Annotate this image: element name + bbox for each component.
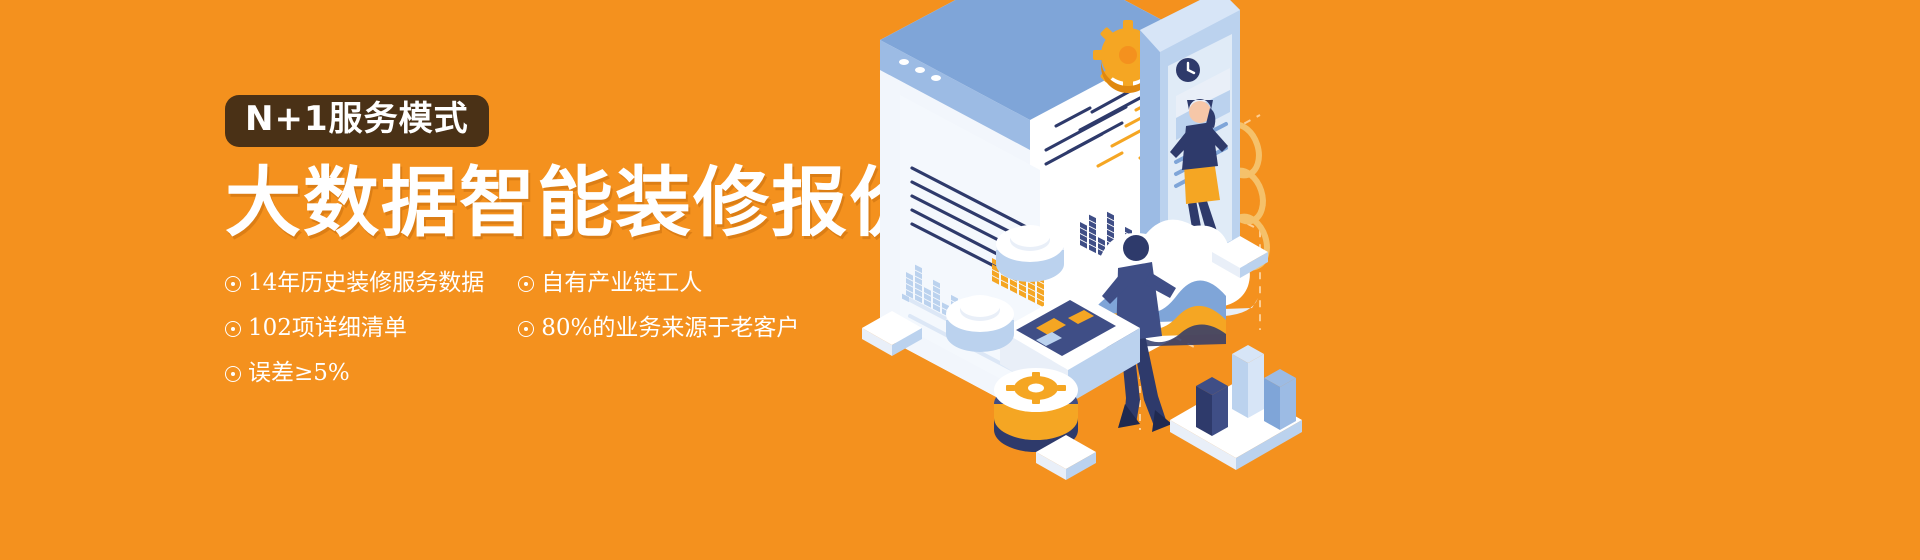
bar-navy	[1196, 377, 1228, 436]
circle-dot-icon	[225, 321, 241, 337]
circle-dot-icon	[518, 276, 534, 292]
stacked-disks-lower	[946, 295, 1014, 352]
list-item: 自有产业链工人	[518, 271, 799, 296]
bar-blue	[1264, 369, 1296, 430]
list-item: 102项详细清单	[225, 316, 484, 341]
list-item-label: 误差≥5%	[248, 361, 350, 386]
circle-dot-icon	[518, 321, 534, 337]
bar-blocks	[1170, 345, 1302, 470]
bar-blue-light	[1232, 345, 1264, 418]
phone-clock-icon	[1176, 58, 1200, 82]
promo-banner: N+1服务模式 大数据智能装修报价 14年历史装修服务数据 102项详细清单 误…	[0, 0, 1920, 560]
list-item-label: 102项详细清单	[248, 316, 407, 341]
list-item: 误差≥5%	[225, 361, 484, 386]
stacked-disks	[996, 225, 1064, 282]
list-item: 14年历史装修服务数据	[225, 271, 484, 296]
feature-bullets-left-column: 14年历史装修服务数据 102项详细清单 误差≥5%	[225, 271, 484, 387]
list-item-label: 80%的业务来源于老客户	[541, 316, 799, 341]
isometric-big-data-illustration	[840, 0, 1920, 560]
circle-dot-icon	[225, 366, 241, 382]
service-model-badge: N+1服务模式	[225, 95, 489, 147]
circle-dot-icon	[225, 276, 241, 292]
list-item-label: 自有产业链工人	[541, 271, 702, 296]
feature-bullets-right-column: 自有产业链工人 80%的业务来源于老客户	[518, 271, 799, 387]
list-item-label: 14年历史装修服务数据	[248, 271, 484, 296]
list-item: 80%的业务来源于老客户	[518, 316, 799, 341]
